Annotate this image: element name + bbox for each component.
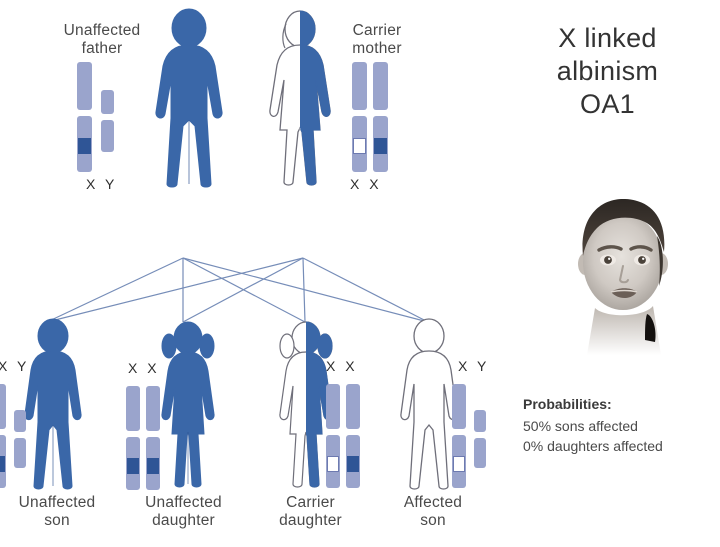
unaffected-daughter-label: Unaffected daughter [121,494,246,530]
carrier-daughter-genotype: X X [326,358,358,374]
mother-genotype: X X [350,176,382,192]
unaffected-son-label: Unaffected son [0,494,117,530]
unaffected-daughter-genotype: X X [128,360,160,376]
chromosome-y [474,410,486,468]
unaffected-son-genotype: X Y [0,358,29,374]
mother-label: Carrier mother [322,22,432,58]
chromosome-x-dark [373,62,388,172]
chromosome-x-dark-2 [146,386,160,490]
title-line-1: X linked [500,22,715,55]
chromosome-y [101,90,114,152]
unaffected-son-chromosomes [0,384,38,488]
affected-son-genotype: X Y [458,358,489,374]
chromosome-x-dark [346,384,360,488]
title-line-2: albinism [500,55,715,88]
affected-son-label: Affected son [378,494,488,530]
chromosome-x-dark [126,386,140,490]
chromosome-y [14,410,26,468]
chromosome-x-dark [0,384,6,488]
title-line-3: OA1 [500,88,715,121]
pedigree-diagram: Unaffected father X Y [0,0,720,547]
father-chromosomes [75,62,121,172]
mother-chromosomes [352,62,398,172]
chromosome-x-open [326,384,340,488]
photo-of-affected-boy [565,190,685,355]
chromosome-x-open [352,62,367,172]
father-genotype: X Y [86,176,117,192]
unaffected-daughter-chromosomes [126,386,172,490]
father-label: Unaffected father [42,22,162,58]
carrier-daughter-chromosomes [326,384,372,488]
page-title: X linked albinism OA1 [500,22,715,121]
carrier-daughter-label: Carrier daughter [248,494,373,530]
chromosome-x-dark [77,62,92,172]
probability-sons: 50% sons affected [523,418,638,434]
affected-son-chromosomes [452,384,498,488]
chromosome-x-open [452,384,466,488]
probability-daughters: 0% daughters affected [523,438,663,454]
probabilities-heading: Probabilities: [523,396,612,412]
